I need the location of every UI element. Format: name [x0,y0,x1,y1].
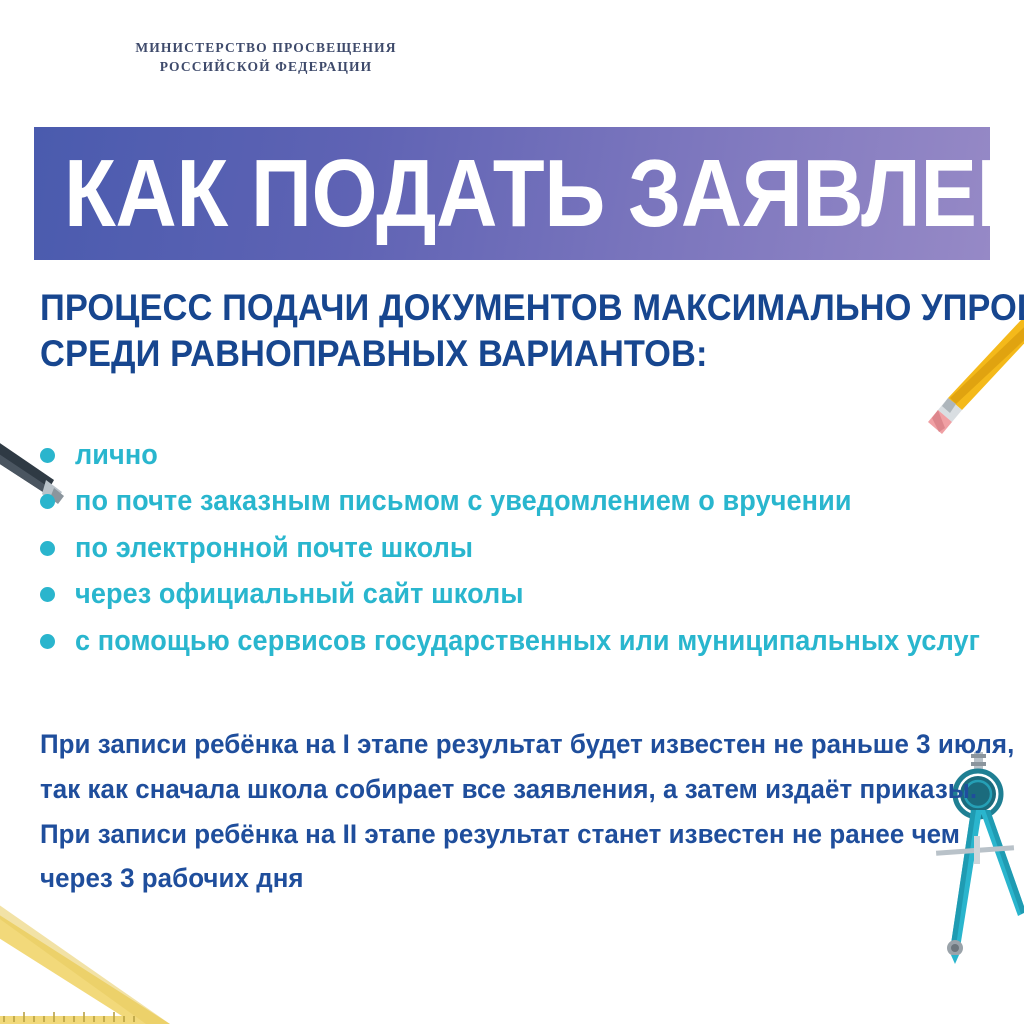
list-item: по почте заказным письмом с уведомлением… [40,479,1000,525]
subtitle-line-2: СРЕДИ РАВНОПРАВНЫХ ВАРИАНТОВ: [40,331,933,377]
bullet-dot-icon [40,448,55,463]
ruler-illustration [0,892,194,1024]
subtitle-block: ПРОЦЕСС ПОДАЧИ ДОКУМЕНТОВ МАКСИМАЛЬНО УП… [40,285,1000,378]
bullet-dot-icon [40,634,55,649]
list-item: по электронной почте школы [40,525,1000,571]
note-line-3: При записи ребёнка на II этапе результат… [40,812,942,857]
submission-options-list: лично по почте заказным письмом с уведом… [40,432,1000,665]
note-line-4: через 3 рабочих дня [40,856,942,901]
bullet-dot-icon [40,541,55,556]
ministry-line-1: МИНИСТЕРСТВО ПРОСВЕЩЕНИЯ [56,38,476,57]
timing-note: При записи ребёнка на I этапе результат … [40,722,980,901]
page-title: КАК ПОДАТЬ ЗАЯВЛЕНИЕ? [64,146,1024,242]
list-item: лично [40,432,1000,478]
option-label: лично [75,439,158,472]
note-line-2: так как сначала школа собирает все заявл… [40,767,942,812]
option-label: через официальный сайт школы [75,578,524,611]
note-line-1: При записи ребёнка на I этапе результат … [40,722,942,767]
list-item: с помощью сервисов государственных или м… [40,618,1000,664]
ministry-logo-text: МИНИСТЕРСТВО ПРОСВЕЩЕНИЯ РОССИЙСКОЙ ФЕДЕ… [56,38,476,76]
option-label: по почте заказным письмом с уведомлением… [75,485,852,518]
option-label: с помощью сервисов государственных или м… [75,625,980,658]
bullet-dot-icon [40,587,55,602]
bullet-dot-icon [40,494,55,509]
subtitle-line-1: ПРОЦЕСС ПОДАЧИ ДОКУМЕНТОВ МАКСИМАЛЬНО УП… [40,285,933,331]
list-item: через официальный сайт школы [40,572,1000,618]
ministry-line-2: РОССИЙСКОЙ ФЕДЕРАЦИИ [56,57,476,76]
infographic-poster: МИНИСТЕРСТВО ПРОСВЕЩЕНИЯ РОССИЙСКОЙ ФЕДЕ… [0,0,1024,1024]
title-banner: КАК ПОДАТЬ ЗАЯВЛЕНИЕ? [34,127,990,260]
option-label: по электронной почте школы [75,532,473,565]
